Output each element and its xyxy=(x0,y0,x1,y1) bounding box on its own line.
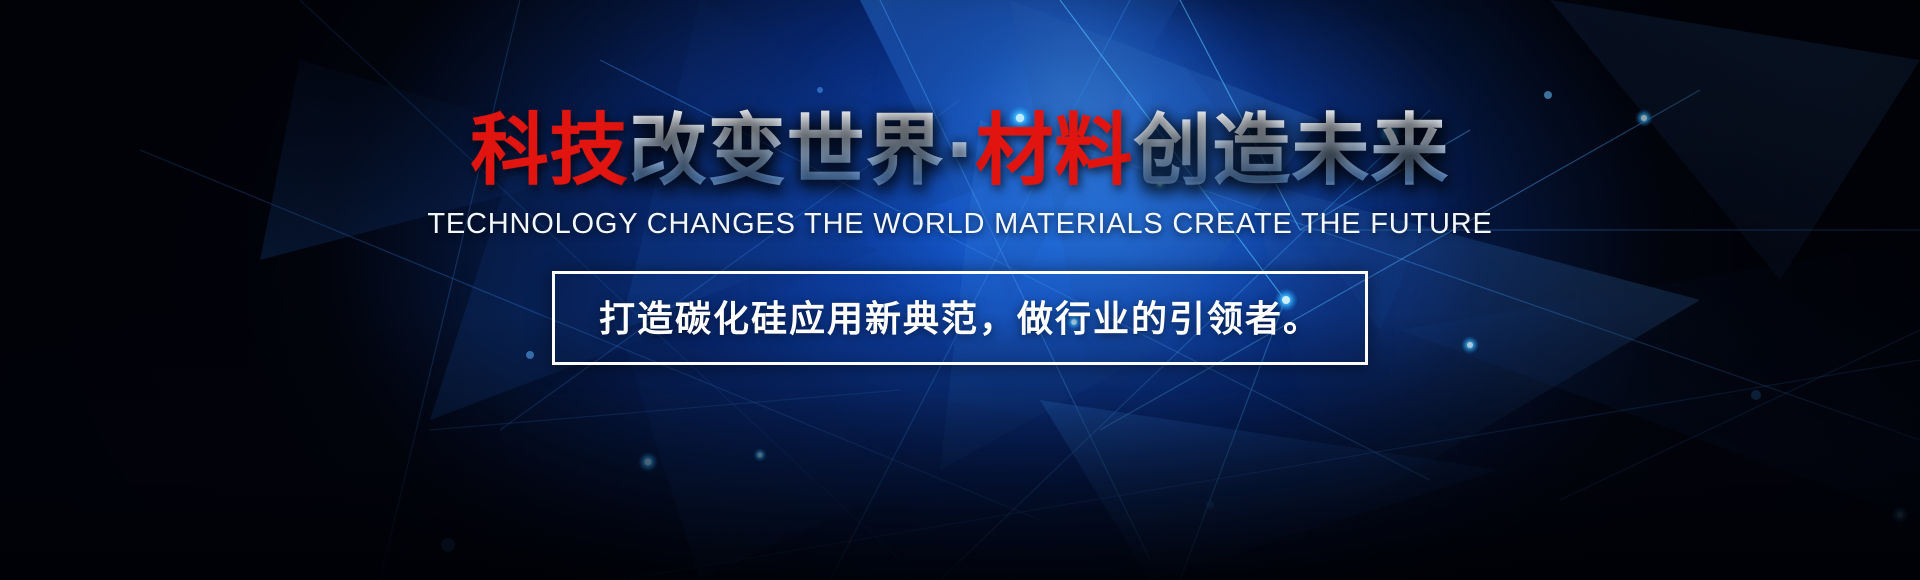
banner-content: 科技改变世界·材料创造未来 TECHNOLOGY CHANGES THE WOR… xyxy=(0,0,1920,580)
hero-banner: 科技改变世界·材料创造未来 TECHNOLOGY CHANGES THE WOR… xyxy=(0,0,1920,580)
page-title: 科技改变世界·材料创造未来 xyxy=(471,112,1450,190)
subtitle-english: TECHNOLOGY CHANGES THE WORLD MATERIALS C… xyxy=(427,208,1492,241)
headline-segment-3: 材料 xyxy=(975,106,1133,196)
headline-segment-2: 改变世界· xyxy=(629,106,976,196)
headline-segment-1: 科技 xyxy=(471,106,629,196)
tagline-box: 打造碳化硅应用新典范，做行业的引领者。 xyxy=(552,271,1368,365)
headline-segment-4: 创造未来 xyxy=(1133,106,1449,196)
tagline-text: 打造碳化硅应用新典范，做行业的引领者。 xyxy=(599,290,1321,342)
